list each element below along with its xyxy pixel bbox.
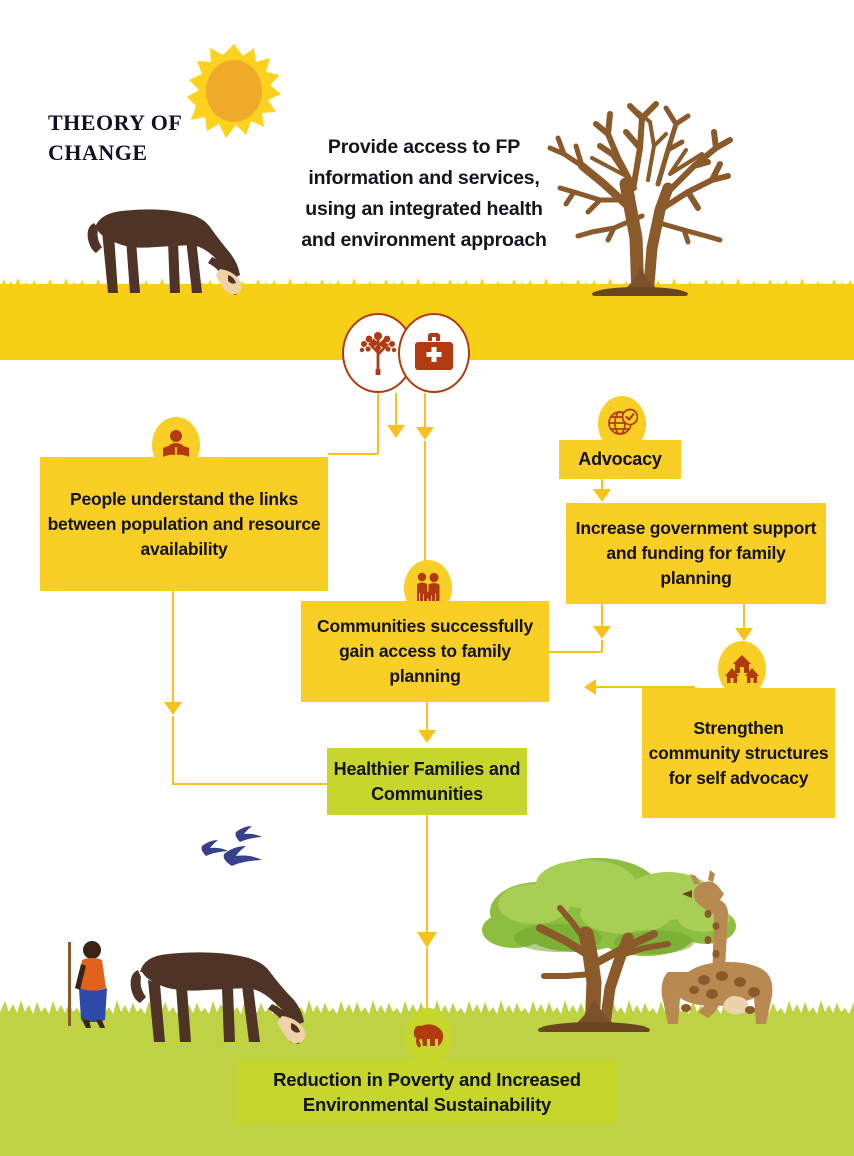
family-icon xyxy=(413,572,443,604)
integrated-approach-icons xyxy=(342,313,470,393)
community-huts-icon xyxy=(725,655,759,683)
globe-check-icon xyxy=(606,408,638,440)
arrow-medkit-down xyxy=(416,427,434,440)
connector-tree-left xyxy=(377,393,379,454)
box-increase-government-support[interactable]: Increase government support and funding … xyxy=(566,503,826,604)
box-healthier-families[interactable]: Healthier Families and Communities xyxy=(327,748,527,815)
theory-of-change-infographic: THEORY OF CHANGE Provide access to FP in… xyxy=(0,0,854,1156)
arrow-communities-down xyxy=(418,730,436,743)
box-communities-gain-access[interactable]: Communities successfully gain access to … xyxy=(301,601,549,702)
arrow-gov-down-left xyxy=(593,626,611,639)
tree-icon xyxy=(358,329,398,377)
connector-gov-to-communities xyxy=(549,651,602,653)
connector-gov-down-left xyxy=(601,604,603,628)
medical-kit-icon-circle[interactable] xyxy=(398,313,470,393)
connector-to-reduction xyxy=(426,948,428,1010)
connector-tree-down xyxy=(395,393,397,427)
arrow-tree-down xyxy=(387,425,405,438)
yellow-grass-blades-top xyxy=(0,276,854,298)
arrow-advocacy-down xyxy=(593,489,611,502)
box-advocacy[interactable]: Advocacy xyxy=(559,440,681,479)
connector-communities-down xyxy=(426,702,428,732)
connector-gov-down-right xyxy=(743,604,745,630)
connector-healthier-down xyxy=(426,815,428,934)
page-title: THEORY OF CHANGE xyxy=(48,108,248,168)
connector-people-down-2 xyxy=(172,716,174,784)
arrow-gov-down-right xyxy=(735,628,753,641)
elephant-badge[interactable] xyxy=(404,1008,452,1064)
connector-medkit-down xyxy=(424,393,426,429)
box-strengthen-community-structures[interactable]: Strengthen community structures for self… xyxy=(642,688,835,818)
box-reduction-in-poverty[interactable]: Reduction in Poverty and Increased Envir… xyxy=(237,1060,617,1123)
medical-kit-icon xyxy=(413,333,455,373)
elephant-icon xyxy=(411,1023,445,1049)
connector-people-down xyxy=(172,591,174,706)
arrow-strengthen-left xyxy=(584,679,596,695)
connector-center-spine xyxy=(424,441,426,563)
box-people-understand[interactable]: People understand the links between popu… xyxy=(40,457,328,591)
connector-to-people-box xyxy=(328,453,378,455)
top-statement: Provide access to FP information and ser… xyxy=(300,132,548,256)
arrow-healthier-down xyxy=(417,932,437,948)
arrow-people-down xyxy=(164,702,182,715)
connector-people-to-healthier xyxy=(172,783,329,785)
